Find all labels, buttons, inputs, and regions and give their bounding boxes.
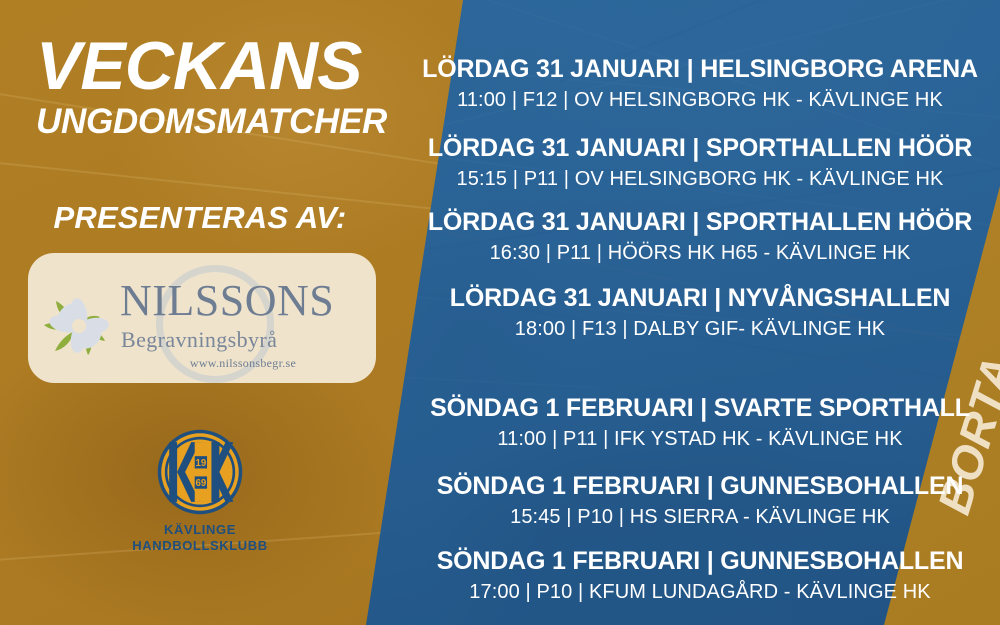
page-subtitle: UNGDOMSMATCHER [36, 104, 387, 139]
club-emblem-icon: 19 69 [156, 428, 244, 516]
match-heading: LÖRDAG 31 JANUARI | NYVÅNGSHALLEN [400, 285, 1000, 313]
match-item[interactable]: LÖRDAG 31 JANUARI | HELSINGBORG ARENA 11… [400, 56, 1000, 112]
sponsor-logo-card[interactable]: NILSSONS Begravningsbyrå www.nilssonsbeg… [28, 253, 376, 383]
match-heading: LÖRDAG 31 JANUARI | SPORTHALLEN HÖÖR [400, 209, 1000, 237]
sponsor-website-url[interactable]: www.nilssonsbegr.se [128, 356, 358, 371]
match-details: 15:15 | P11 | OV HELSINGBORG HK - KÄVLIN… [400, 168, 1000, 191]
match-details: 11:00 | F12 | OV HELSINGBORG HK - KÄVLIN… [400, 89, 1000, 112]
match-heading: SÖNDAG 1 FEBRUARI | GUNNESBOHALLEN [400, 473, 1000, 501]
match-details: 16:30 | P11 | HÖÖRS HK H65 - KÄVLINGE HK [400, 242, 1000, 265]
club-name-line1: KÄVLINGE [0, 522, 400, 538]
emblem-year-bottom: 69 [195, 478, 206, 489]
poster-canvas: BORTA VECKANS UNGDOMSMATCHER PRESENTERAS… [0, 0, 1000, 625]
sponsor-subtitle: Begravningsbyrå [121, 329, 371, 351]
match-item[interactable]: LÖRDAG 31 JANUARI | NYVÅNGSHALLEN 18:00 … [400, 285, 1000, 341]
match-details: 11:00 | P11 | IFK YSTAD HK - KÄVLINGE HK [400, 428, 1000, 451]
emblem-year-top: 19 [195, 458, 206, 469]
match-item[interactable]: SÖNDAG 1 FEBRUARI | SVARTE SPORTHALL 11:… [400, 395, 1000, 451]
left-column: VECKANS UNGDOMSMATCHER PRESENTERAS AV: [0, 0, 420, 625]
match-list: LÖRDAG 31 JANUARI | HELSINGBORG ARENA 11… [400, 0, 1000, 625]
club-name-line2: HANDBOLLSKLUBB [0, 538, 400, 554]
match-heading: SÖNDAG 1 FEBRUARI | SVARTE SPORTHALL [400, 395, 1000, 423]
presented-by-label: PRESENTERAS AV: [0, 200, 400, 236]
match-heading: LÖRDAG 31 JANUARI | HELSINGBORG ARENA [400, 56, 1000, 84]
match-item[interactable]: SÖNDAG 1 FEBRUARI | GUNNESBOHALLEN 17:00… [400, 548, 1000, 604]
flower-icon [42, 291, 116, 361]
sponsor-name: NILSSONS [120, 279, 370, 323]
match-heading: SÖNDAG 1 FEBRUARI | GUNNESBOHALLEN [400, 548, 1000, 576]
match-details: 18:00 | F13 | DALBY GIF- KÄVLINGE HK [400, 318, 1000, 341]
match-item[interactable]: LÖRDAG 31 JANUARI | SPORTHALLEN HÖÖR 16:… [400, 209, 1000, 265]
match-details: 17:00 | P10 | KFUM LUNDAGÅRD - KÄVLINGE … [400, 581, 1000, 604]
page-title: VECKANS [36, 32, 362, 100]
match-details: 15:45 | P10 | HS SIERRA - KÄVLINGE HK [400, 506, 1000, 529]
match-item[interactable]: LÖRDAG 31 JANUARI | SPORTHALLEN HÖÖR 15:… [400, 135, 1000, 191]
club-logo-block: 19 69 KÄVLINGE HANDBOLLSKLUBB [0, 428, 400, 555]
match-heading: LÖRDAG 31 JANUARI | SPORTHALLEN HÖÖR [400, 135, 1000, 163]
match-item[interactable]: SÖNDAG 1 FEBRUARI | GUNNESBOHALLEN 15:45… [400, 473, 1000, 529]
